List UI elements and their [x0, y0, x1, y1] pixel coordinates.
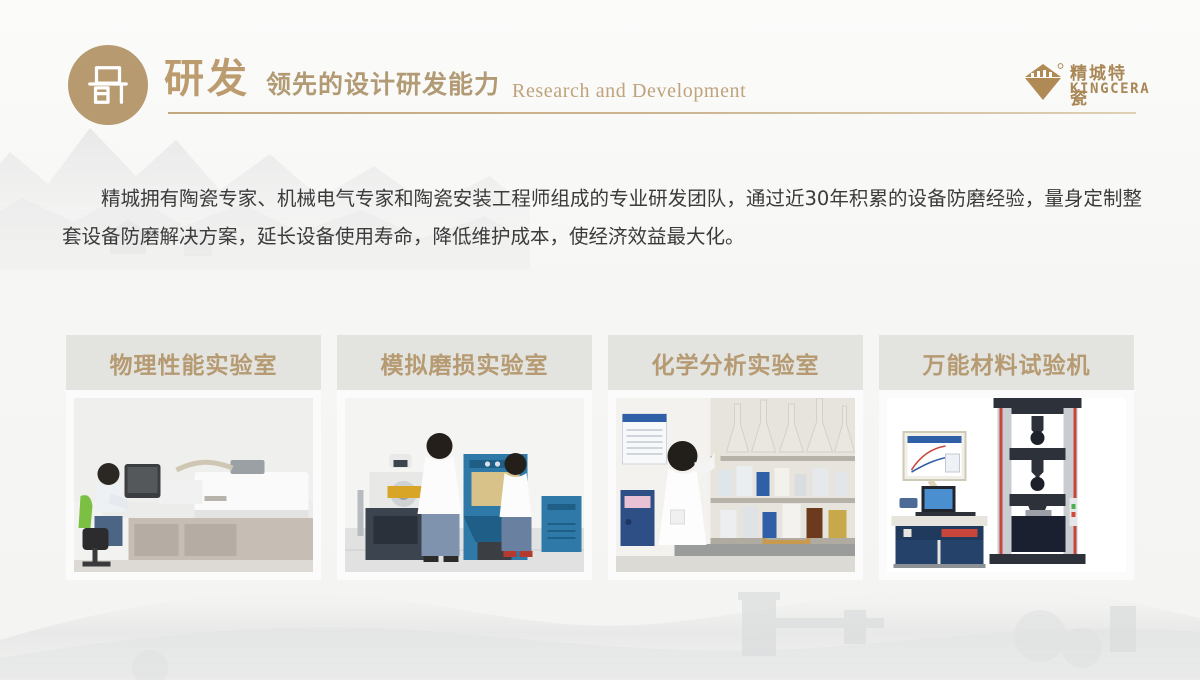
page-header: 研发 领先的设计研发能力 Research and Development	[0, 0, 1200, 130]
lab-card-header: 万能材料试验机	[879, 335, 1134, 390]
lab-photo-physical-lab	[74, 398, 313, 572]
page-title: 研发	[164, 55, 250, 103]
lab-photo-wear-simulation-lab	[345, 398, 584, 572]
page-subtitle-cn: 领先的设计研发能力	[266, 68, 500, 102]
page-subtitle-en: Research and Development	[512, 78, 746, 104]
lab-card[interactable]: 物理性能实验室	[66, 335, 321, 580]
desk-computer-icon	[85, 62, 131, 108]
lab-card-header: 模拟磨损实验室	[337, 335, 592, 390]
lab-card-title: 物理性能实验室	[110, 346, 278, 380]
lab-card[interactable]: 万能材料试验机	[879, 335, 1134, 580]
section-badge	[68, 45, 148, 125]
lab-card-list: 物理性能实验室	[66, 335, 1134, 580]
lab-card[interactable]: 化学分析实验室	[608, 335, 863, 580]
lab-card-title: 模拟磨损实验室	[381, 346, 549, 380]
header-divider	[168, 112, 1136, 114]
lab-card[interactable]: 模拟磨损实验室	[337, 335, 592, 580]
lab-card-header: 物理性能实验室	[66, 335, 321, 390]
lab-card-body	[879, 390, 1134, 580]
lab-photo-chemical-analysis-lab	[616, 398, 855, 572]
brand-name-en: KINGCERA	[1070, 81, 1150, 97]
lab-card-header: 化学分析实验室	[608, 335, 863, 390]
lab-photo-universal-testing-machine	[887, 398, 1126, 572]
lab-card-body	[66, 390, 321, 580]
brand-logo: 精城特瓷 KINGCERA	[1022, 58, 1142, 106]
lab-card-title: 化学分析实验室	[652, 346, 820, 380]
lab-card-body	[337, 390, 592, 580]
lab-card-body	[608, 390, 863, 580]
slide-page: 研发 领先的设计研发能力 Research and Development	[0, 0, 1200, 680]
intro-paragraph: 精城拥有陶瓷专家、机械电气专家和陶瓷安装工程师组成的专业研发团队，通过近30年积…	[62, 180, 1142, 256]
kingcera-diamond-icon	[1022, 62, 1064, 102]
lab-card-title: 万能材料试验机	[923, 346, 1091, 380]
